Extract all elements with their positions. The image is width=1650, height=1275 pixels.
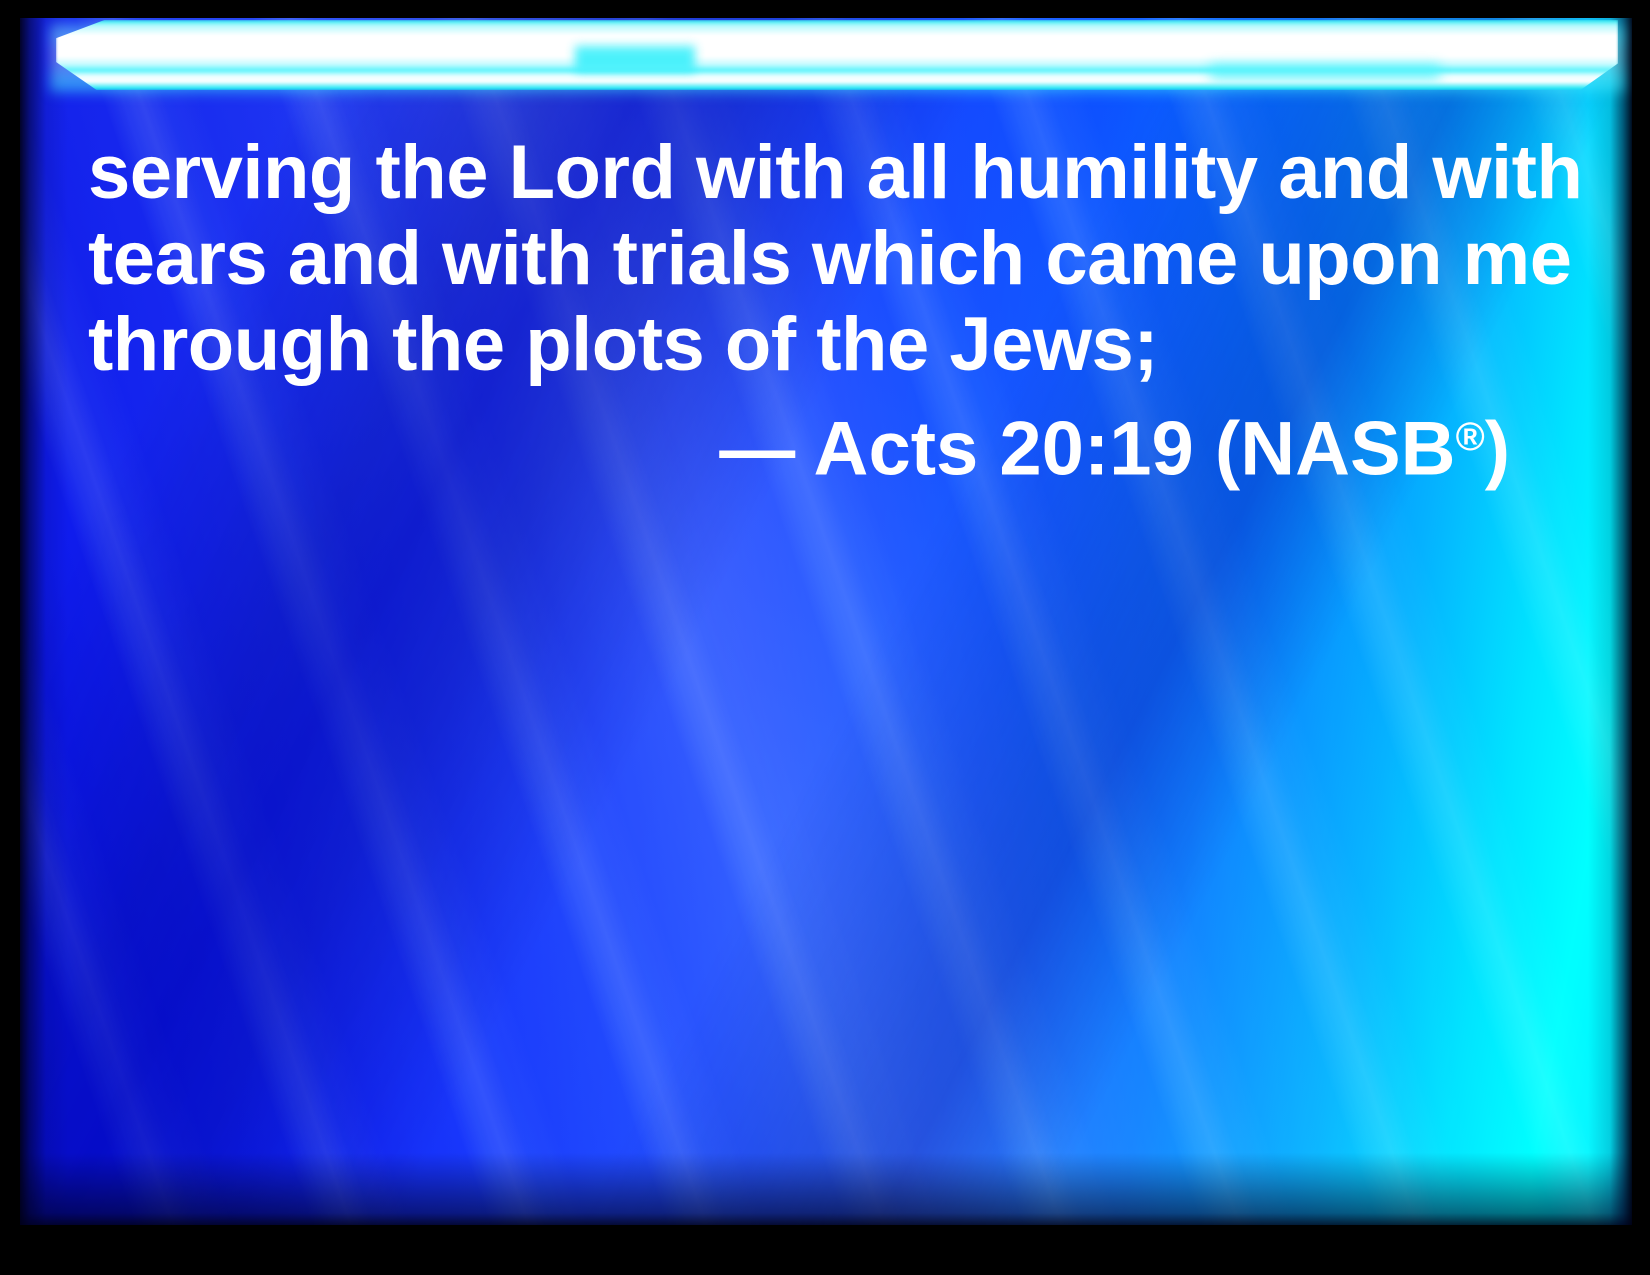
verse-attribution: — Acts 20:19 (NASB®) [88,394,1538,493]
top-band-cyan-highlight [575,46,695,72]
attribution-closing-paren: ) [1485,407,1510,492]
verse-slide: serving the Lord with all humility and w… [0,0,1650,1275]
verse-line-3: through the plots of the Jews; [88,302,1538,388]
verse-line-1: serving the Lord with all humility and w… [88,130,1538,216]
attribution-reference: — Acts 20:19 (NASB [719,407,1455,492]
top-band-cyan-highlight-right [1210,64,1440,80]
registered-trademark-icon: ® [1456,415,1485,459]
slide-artwork: serving the Lord with all humility and w… [20,18,1632,1225]
top-highlight-band [20,18,1632,108]
verse-text-block: serving the Lord with all humility and w… [88,130,1538,493]
verse-line-2: tears and with trials which came upon me [88,216,1538,302]
